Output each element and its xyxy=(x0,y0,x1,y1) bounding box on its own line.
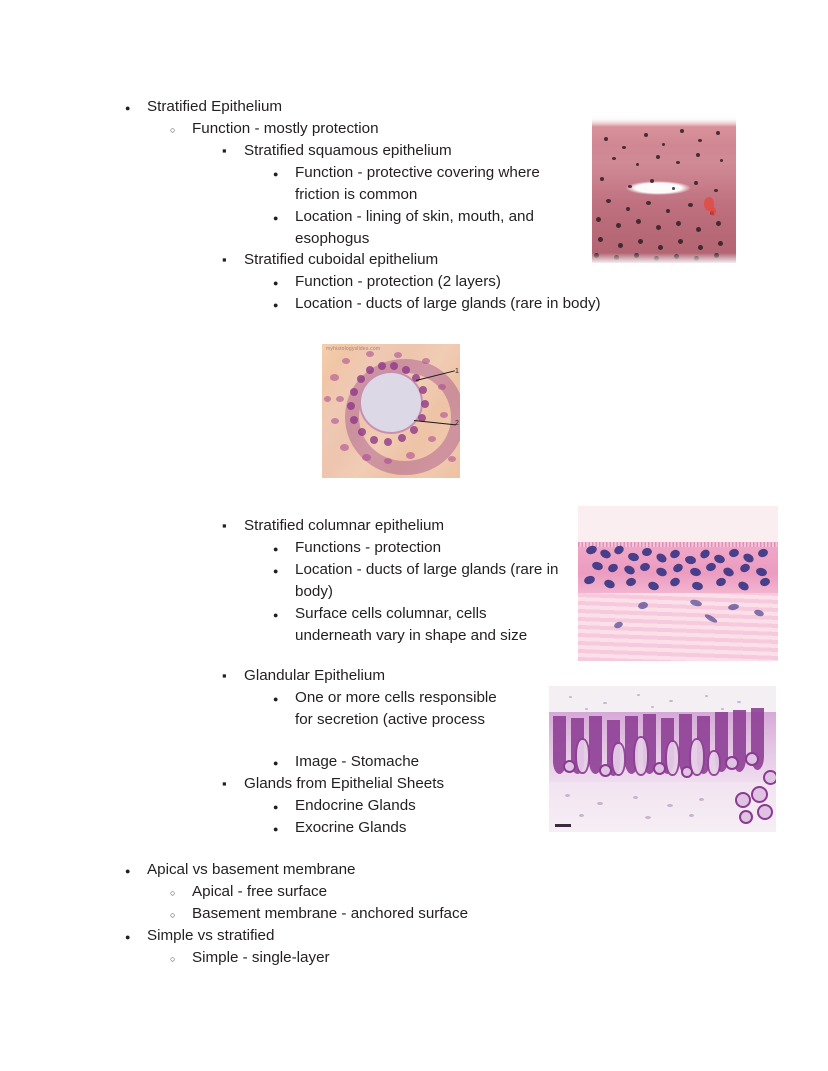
bullet-disc-icon xyxy=(125,96,142,119)
bullet-disc-icon xyxy=(273,206,290,229)
list-item: Glands from Epithelial Sheets xyxy=(222,773,572,795)
list-item: Image - Stomache xyxy=(273,751,563,773)
bullet-square-icon xyxy=(222,665,239,687)
list-item-label: Image - Stomache xyxy=(295,751,563,773)
bullet-disc-icon xyxy=(273,687,290,710)
stratified-squamous-histology-image xyxy=(592,113,736,263)
list-item-label: Location - ducts of large glands (rare i… xyxy=(295,559,563,603)
bullet-square-icon xyxy=(222,773,239,795)
list-item-label: Stratified Epithelium xyxy=(147,96,545,118)
bullet-disc-icon xyxy=(125,925,142,948)
bullet-square-icon xyxy=(222,249,239,271)
list-item: Apical vs basement membrane xyxy=(125,859,545,881)
list-item-label: Stratified columnar epithelium xyxy=(244,515,572,537)
list-item-label: Location - ducts of large glands (rare i… xyxy=(295,293,703,315)
list-item: Function - protection (2 layers) xyxy=(273,271,693,293)
image-top-fade xyxy=(592,113,736,127)
list-item-label: Apical - free surface xyxy=(192,881,590,903)
list-item: Location - ducts of large glands (rare i… xyxy=(273,559,563,603)
stratified-columnar-histology-image xyxy=(578,506,778,661)
basement-connective-band xyxy=(578,593,778,661)
scale-bar xyxy=(555,824,571,827)
list-item-label: One or more cells responsible for secret… xyxy=(295,687,515,731)
list-item: Function - protective covering where fri… xyxy=(273,162,561,206)
label-2-text: 2 xyxy=(455,420,459,427)
list-item: Stratified Epithelium xyxy=(125,96,545,118)
bullet-square-icon xyxy=(222,140,239,162)
list-item-label: Glandular Epithelium xyxy=(244,665,572,687)
list-item-label: Function - mostly protection xyxy=(192,118,590,140)
list-item-label: Simple - single-layer xyxy=(192,947,590,969)
stratified-cuboidal-duct-histology-image: myhistologyslides.com xyxy=(322,344,460,478)
document-page: Stratified Epithelium Function - mostly … xyxy=(0,0,828,1071)
bullet-disc-icon xyxy=(273,751,290,774)
list-item: Location - ducts of large glands (rare i… xyxy=(273,293,703,315)
bullet-disc-icon xyxy=(273,537,290,560)
list-item-label: Stratified cuboidal epithelium xyxy=(244,249,622,271)
bullet-circle-icon xyxy=(170,947,187,970)
list-item-label: Endocrine Glands xyxy=(295,795,563,817)
list-item-label: Exocrine Glands xyxy=(295,817,563,839)
list-item: Stratified squamous epithelium xyxy=(222,140,622,162)
list-item: Simple - single-layer xyxy=(170,947,590,969)
label-1-text: 1 xyxy=(455,368,459,375)
bullet-circle-icon xyxy=(170,903,187,926)
list-item-label: Simple vs stratified xyxy=(147,925,545,947)
list-item: Basement membrane - anchored surface xyxy=(170,903,630,925)
bullet-disc-icon xyxy=(273,795,290,818)
list-item: Glandular Epithelium xyxy=(222,665,572,687)
list-item: Functions - protection xyxy=(273,537,563,559)
bullet-circle-icon xyxy=(170,881,187,904)
list-item: Exocrine Glands xyxy=(273,817,563,839)
bullet-disc-icon xyxy=(273,293,290,316)
list-item: Surface cells columnar, cells underneath… xyxy=(273,603,555,647)
bullet-circle-icon xyxy=(170,118,187,141)
list-item-label: Functions - protection xyxy=(295,537,563,559)
apical-brush-border xyxy=(578,542,778,547)
list-item: Location - lining of skin, mouth, and es… xyxy=(273,206,561,250)
bullet-disc-icon xyxy=(125,859,142,882)
list-item-label: Basement membrane - anchored surface xyxy=(192,903,630,925)
list-item-label: Glands from Epithelial Sheets xyxy=(244,773,572,795)
list-item-label: Location - lining of skin, mouth, and es… xyxy=(295,206,561,250)
list-item-label: Function - protective covering where fri… xyxy=(295,162,561,206)
bullet-disc-icon xyxy=(273,817,290,840)
list-item: Function - mostly protection xyxy=(170,118,590,140)
list-item: Simple vs stratified xyxy=(125,925,545,947)
bullet-disc-icon xyxy=(273,271,290,294)
list-item: Apical - free surface xyxy=(170,881,590,903)
list-item-label: Stratified squamous epithelium xyxy=(244,140,622,162)
list-item: One or more cells responsible for secret… xyxy=(273,687,515,731)
stomach-glandular-histology-image xyxy=(549,686,776,832)
list-item: Endocrine Glands xyxy=(273,795,563,817)
list-item: Stratified columnar epithelium xyxy=(222,515,572,537)
list-item: Stratified cuboidal epithelium xyxy=(222,249,622,271)
bullet-square-icon xyxy=(222,515,239,537)
list-item-label: Function - protection (2 layers) xyxy=(295,271,693,293)
list-item-label: Apical vs basement membrane xyxy=(147,859,545,881)
bullet-disc-icon xyxy=(273,162,290,185)
bullet-disc-icon xyxy=(273,603,290,626)
slide-background-band xyxy=(578,506,778,543)
list-item-label: Surface cells columnar, cells underneath… xyxy=(295,603,555,647)
image-bottom-fade xyxy=(592,253,736,263)
bullet-disc-icon xyxy=(273,559,290,582)
